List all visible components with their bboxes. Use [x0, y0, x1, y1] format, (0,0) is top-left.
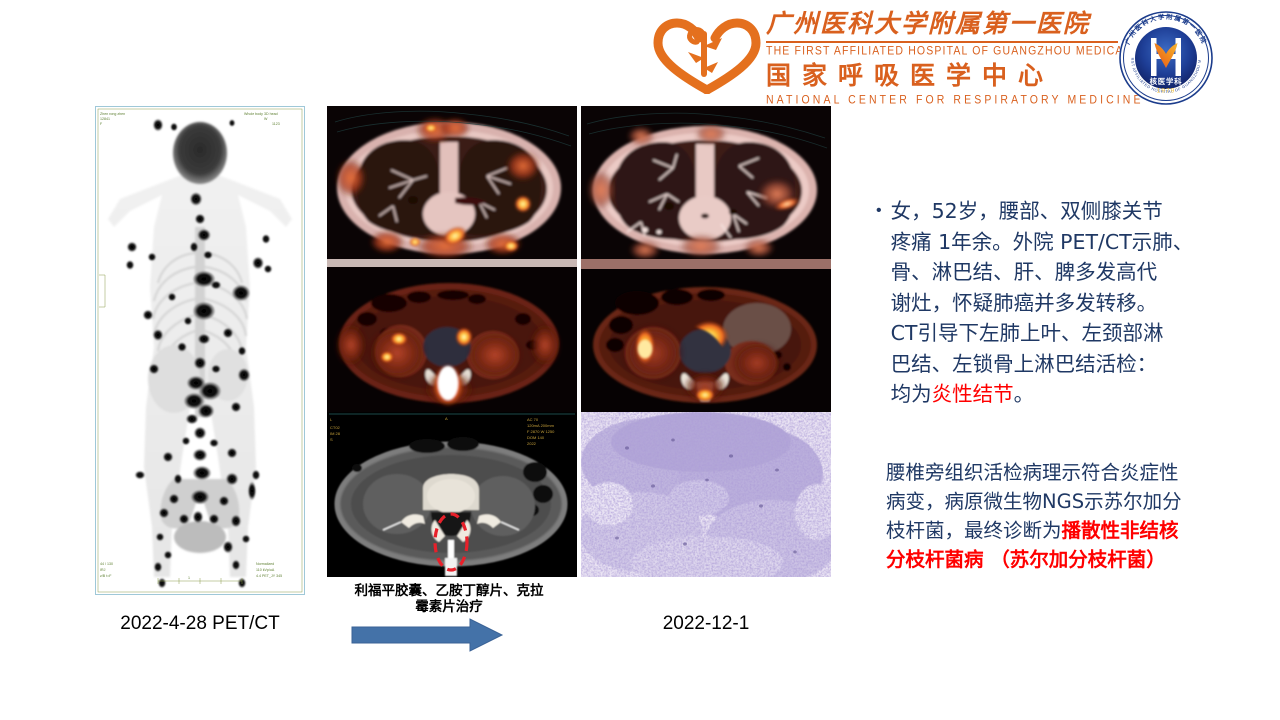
slide-header: 广州医科大学附属第一医院 THE FIRST AFFILIATED HOSPIT… [648, 6, 1128, 108]
final-diagnosis-highlight-2: 分枝杆菌病 （苏尔加分枝杆菌） [886, 545, 1226, 574]
clinical-history-block: • 女，52岁，腰部、双侧膝关节 疼痛 1年余。外院 PET/CT示肺、 骨、淋… [876, 196, 1248, 410]
abdomen-petct-pre-image [327, 259, 577, 412]
chest-petct-post-image [581, 106, 831, 259]
history-line-1: 女，52岁，腰部、双侧膝关节 [891, 196, 1194, 227]
clinical-history-text: 女，52岁，腰部、双侧膝关节 疼痛 1年余。外院 PET/CT示肺、 骨、淋巴结… [891, 196, 1194, 410]
svg-text:AC 70: AC 70 [527, 417, 539, 422]
svg-text:W: W [264, 117, 268, 121]
hospital-name-en: THE FIRST AFFILIATED HOSPITAL OF GUANGZH… [766, 43, 1126, 60]
svg-text:12841: 12841 [100, 117, 110, 121]
inflammatory-nodule-highlight: 炎性结节 [932, 382, 1014, 406]
svg-text:Whole body 3D head: Whole body 3D head [244, 112, 278, 116]
treatment-label: 利福平胶囊、乙胺丁醇片、克拉霉素片治疗 [354, 583, 544, 615]
brand-text-block: 广州医科大学附属第一医院 THE FIRST AFFILIATED HOSPIT… [766, 8, 1126, 106]
hospital-seal-icon: 广州医科大学附属第一医院 THE FIRST AFFILIATED HOSPIT… [1118, 10, 1214, 106]
svg-text:4.4 PET_JY 345: 4.4 PET_JY 345 [256, 574, 282, 578]
pet-mip-image: Zhen rong zhen 12841 F Whole body 3D hea… [95, 106, 305, 595]
svg-text:1: 1 [188, 576, 190, 580]
svg-text:2022: 2022 [527, 441, 537, 446]
history-line-7-suffix: 。 [1014, 382, 1035, 406]
ct-guided-biopsy-image: L A AC 70 120mA 200mm F 2870 W 1250 DOM … [327, 412, 577, 577]
svg-text:IRJ: IRJ [100, 568, 106, 572]
caption-post-treatment: 2022-12-1 [581, 613, 831, 635]
abdomen-petct-post-image [581, 259, 831, 412]
svg-text:1979: 1979 [1157, 88, 1176, 95]
right-arrow-icon [330, 617, 550, 658]
heart-bird-logo-icon [652, 18, 762, 94]
svg-text:Normalized: Normalized [256, 562, 274, 566]
svg-text:A: A [445, 416, 448, 421]
hospital-name-cn: 广州医科大学附属第一医院 [766, 8, 1118, 43]
diagnosis-line-3: 枝杆菌，最终诊断为播散性非结核 [886, 516, 1226, 545]
history-line-7: 均为炎性结节。 [891, 379, 1194, 410]
center-name-cn: 国家呼吸医学中心 [766, 59, 1126, 92]
svg-text:F 2870 W 1250: F 2870 W 1250 [527, 429, 555, 434]
svg-text:44 / 130: 44 / 130 [100, 562, 113, 566]
treatment-group: 利福平胶囊、乙胺丁醇片、克拉霉素片治疗 [330, 583, 550, 658]
svg-text:IM 28: IM 28 [330, 431, 341, 436]
svg-text:核医学科: 核医学科 [1150, 77, 1183, 86]
diagnosis-block: 腰椎旁组织活检病理示符合炎症性 病变，病原微生物NGS示苏尔加分 枝杆菌，最终诊… [886, 458, 1226, 574]
diagnosis-line-3-prefix: 枝杆菌，最终诊断为 [886, 519, 1062, 542]
svg-text:CT02: CT02 [330, 425, 341, 430]
svg-text:S: S [330, 437, 333, 442]
chest-petct-pre-image [327, 106, 577, 259]
histopathology-image [581, 412, 831, 577]
final-diagnosis-highlight-1: 播散性非结核 [1062, 519, 1179, 542]
history-line-7-prefix: 均为 [891, 382, 932, 406]
history-line-6: 巴结、左锁骨上淋巴结活检： [891, 349, 1194, 380]
svg-text:z/B t=F: z/B t=F [100, 574, 112, 578]
history-line-4: 谢灶，怀疑肺癌并多发转移。 [891, 288, 1194, 319]
history-line-2: 疼痛 1年余。外院 PET/CT示肺、 [891, 227, 1194, 258]
bullet-icon: • [876, 196, 882, 227]
svg-text:DOM 140: DOM 140 [527, 435, 545, 440]
svg-text:Zhen rong zhen: Zhen rong zhen [100, 112, 125, 116]
svg-text:1123: 1123 [272, 122, 280, 126]
diagnosis-line-1: 腰椎旁组织活检病理示符合炎症性 [886, 458, 1226, 487]
svg-text:120mA 200mm: 120mA 200mm [527, 423, 555, 428]
history-line-3: 骨、淋巴结、肝、脾多发高代 [891, 257, 1194, 288]
svg-text:110 kVp/uA: 110 kVp/uA [256, 568, 275, 572]
diagnosis-line-2: 病变，病原微生物NGS示苏尔加分 [886, 487, 1226, 516]
history-line-5: CT引导下左肺上叶、左颈部淋 [891, 318, 1194, 349]
caption-pre-treatment: 2022-4-28 PET/CT [95, 613, 305, 635]
